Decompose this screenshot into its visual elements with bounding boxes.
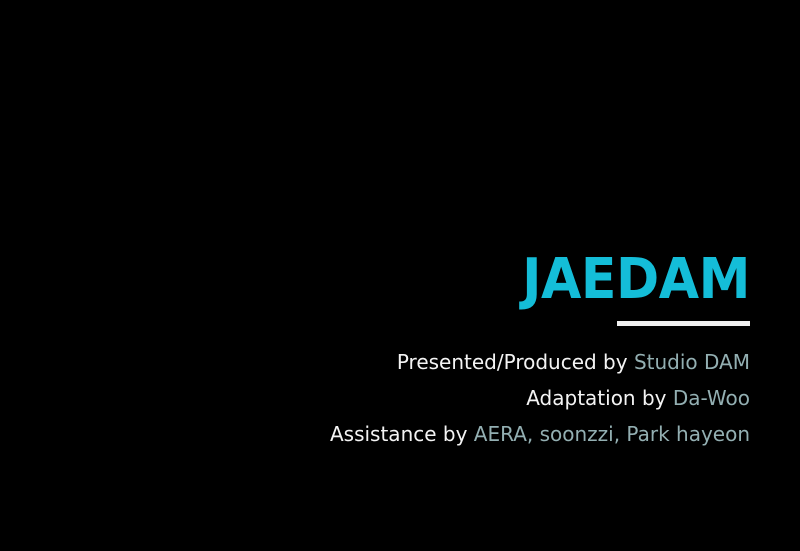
credits-block: JAEDAM Presented/Produced by Studio DAM …: [230, 252, 750, 452]
jaedam-logo-text: JAEDAM: [522, 252, 750, 308]
credit-line-assistance: Assistance by AERA, soonzzi, Park hayeon: [230, 416, 750, 452]
credit-role-label: Assistance by: [330, 422, 467, 446]
credit-name-value: AERA, soonzzi, Park hayeon: [474, 422, 750, 446]
credit-line-adaptation: Adaptation by Da-Woo: [230, 380, 750, 416]
logo-underline-rule: [617, 321, 750, 326]
credit-name-value: Studio DAM: [634, 350, 750, 374]
jaedam-logo: JAEDAM: [230, 252, 750, 308]
credit-role-label: Presented/Produced by: [397, 350, 628, 374]
credit-name-value: Da-Woo: [673, 386, 750, 410]
credit-role-label: Adaptation by: [526, 386, 666, 410]
credit-lines: Presented/Produced by Studio DAM Adaptat…: [230, 344, 750, 452]
credit-line-presented-produced: Presented/Produced by Studio DAM: [230, 344, 750, 380]
credits-page: JAEDAM Presented/Produced by Studio DAM …: [0, 0, 800, 551]
